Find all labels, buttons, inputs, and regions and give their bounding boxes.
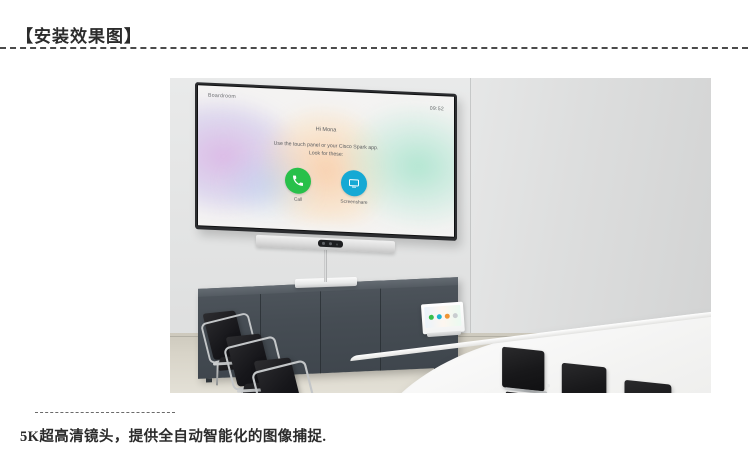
touch-panel-body[interactable] [421,302,465,335]
chair-leg [240,391,243,393]
caption-divider [35,412,175,413]
green-dot-icon[interactable] [428,315,433,320]
camera-sensor [336,243,338,245]
chair [562,365,612,393]
chair-leg [216,364,219,385]
touch-control-panel[interactable] [421,302,465,338]
chair-back [624,380,671,393]
grey-dot-icon[interactable] [452,313,457,318]
chair [502,349,550,393]
camera-lens [329,242,332,245]
touch-panel-screen[interactable] [424,305,461,328]
chair-knob [546,384,550,388]
screenshare-icon[interactable] [341,170,367,197]
display-call-action[interactable]: Call [279,167,317,204]
display-stand-pole [324,249,327,282]
display-room-name: Boardroom [208,93,236,100]
chair-back [502,347,544,392]
display-clock: 09:52 [430,106,444,113]
installation-photo: Boardroom 09:52 Hi Mona Use the touch pa… [170,78,711,393]
display-screen: Boardroom 09:52 Hi Mona Use the touch pa… [198,85,454,237]
chair [258,358,336,393]
credenza-door-seam [380,289,381,371]
orange-dot-icon[interactable] [444,314,449,319]
phone-icon[interactable] [285,167,311,194]
screen-gradient-green [341,100,454,232]
camera-lens [322,242,325,245]
title-divider [0,47,748,49]
page-title: 【安装效果图】 [16,22,142,47]
teal-dot-icon[interactable] [436,314,441,319]
chair-back [562,363,607,393]
wall-display: Boardroom 09:52 Hi Mona Use the touch pa… [195,82,457,241]
display-screenshare-action[interactable]: Screenshare [335,169,373,206]
camera-icon [318,240,343,248]
caption-text: 5K超高清镜头，提供全自动智能化的图像捕捉. [20,425,326,446]
chair [624,382,677,393]
